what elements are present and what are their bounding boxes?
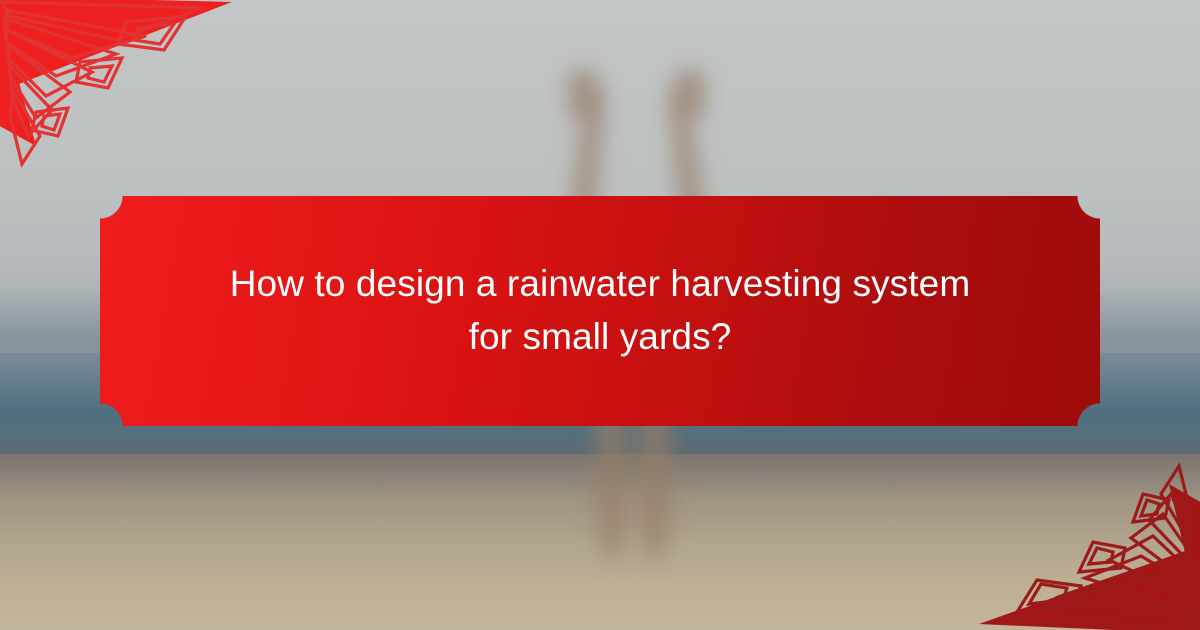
figure-right-hand bbox=[676, 68, 705, 120]
social-share-card: How to design a rainwater harvesting sys… bbox=[0, 0, 1200, 630]
title-banner: How to design a rainwater harvesting sys… bbox=[100, 196, 1100, 426]
page-title: How to design a rainwater harvesting sys… bbox=[185, 258, 1015, 363]
figure-left-hand bbox=[568, 68, 597, 120]
